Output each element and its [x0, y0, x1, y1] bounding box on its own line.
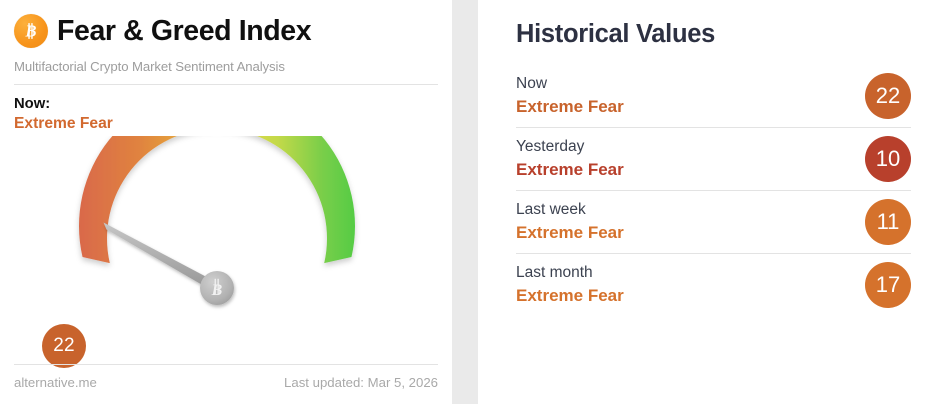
- footer: alternative.me Last updated: Mar 5, 2026: [14, 364, 438, 390]
- page-title: Fear & Greed Index: [57, 17, 311, 46]
- list-item: Last week Extreme Fear 11: [516, 191, 911, 254]
- gauge-panel: B Fear & Greed Index Multifactorial Cryp…: [0, 0, 452, 404]
- list-item-value: Extreme Fear: [516, 221, 624, 244]
- list-item-value: Extreme Fear: [516, 284, 624, 307]
- list-item: Yesterday Extreme Fear 10: [516, 128, 911, 191]
- historical-values-list: Now Extreme Fear 22 Yesterday Extreme Fe…: [516, 65, 911, 316]
- historical-values-panel: Historical Values Now Extreme Fear 22 Ye…: [478, 0, 941, 404]
- source-link[interactable]: alternative.me: [14, 375, 97, 390]
- fear-greed-widget: B Fear & Greed Index Multifactorial Cryp…: [0, 0, 941, 404]
- list-item-value: Extreme Fear: [516, 158, 624, 181]
- gauge: B 22: [0, 136, 452, 364]
- status-badge: 22: [865, 73, 911, 119]
- svg-text:B: B: [211, 282, 223, 299]
- gauge-arc: [79, 136, 355, 263]
- current-reading-value: Extreme Fear: [14, 114, 438, 134]
- status-badge: 11: [865, 199, 911, 245]
- last-updated-text: Last updated: Mar 5, 2026: [284, 375, 438, 390]
- list-item-label: Last month: [516, 262, 624, 283]
- gauge-value-badge: 22: [42, 324, 86, 368]
- list-item: Last month Extreme Fear 17: [516, 254, 911, 316]
- historical-values-title: Historical Values: [516, 20, 911, 49]
- current-reading-label: Now:: [14, 95, 438, 114]
- gauge-needle: [104, 223, 218, 294]
- status-badge: 17: [865, 262, 911, 308]
- current-reading: Now: Extreme Fear: [14, 95, 438, 134]
- panel-gap: [452, 0, 478, 404]
- header-divider: [14, 84, 438, 85]
- list-item-label: Now: [516, 73, 624, 94]
- footer-divider: [14, 364, 438, 365]
- list-item-label: Yesterday: [516, 136, 624, 157]
- list-item-label: Last week: [516, 199, 624, 220]
- status-badge: 10: [865, 136, 911, 182]
- list-item: Now Extreme Fear 22: [516, 65, 911, 128]
- header: B Fear & Greed Index: [14, 10, 438, 52]
- list-item-value: Extreme Fear: [516, 95, 624, 118]
- gauge-hub-bitcoin-icon: B: [211, 279, 223, 299]
- bitcoin-icon: B: [14, 14, 48, 48]
- page-subtitle: Multifactorial Crypto Market Sentiment A…: [14, 59, 438, 74]
- svg-text:B: B: [24, 22, 36, 41]
